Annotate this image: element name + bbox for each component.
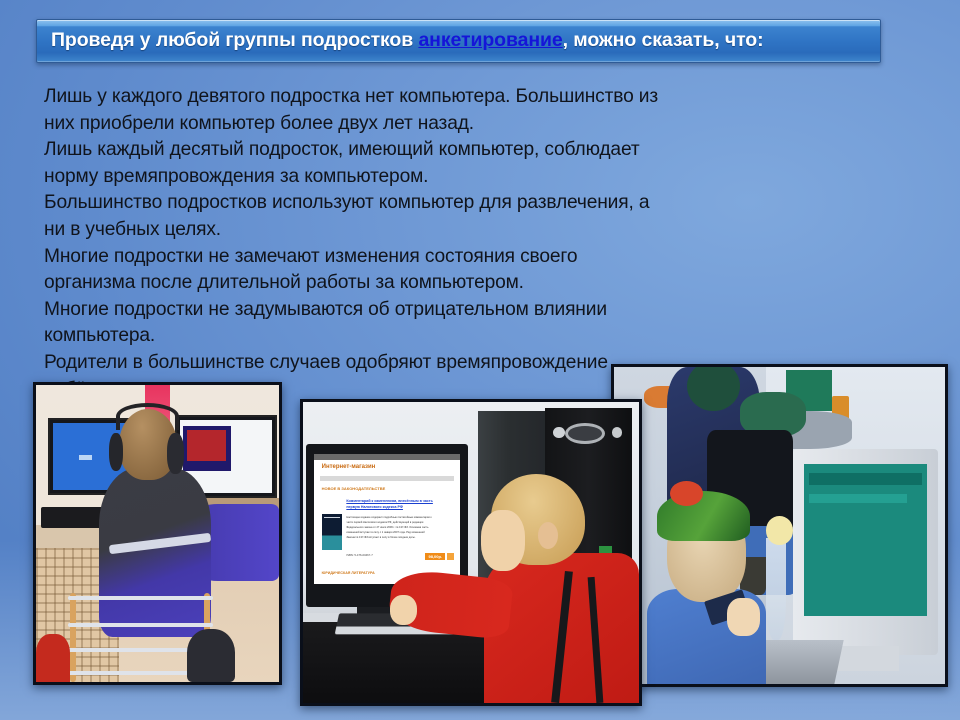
- girl-hand: [727, 598, 760, 636]
- body-line: организма после длительной работы за ком…: [44, 270, 734, 297]
- monitor: [793, 449, 939, 655]
- item-link[interactable]: Комментарий к изменениям, внесённым в ча…: [346, 499, 436, 510]
- photo-girl-flower-crown: [611, 364, 948, 687]
- boy-face: [481, 510, 525, 570]
- monitor-screen: [804, 464, 926, 616]
- body-line: компьютера.: [44, 323, 734, 350]
- reset-button-icon: [612, 427, 622, 437]
- headphone-cup-left: [109, 433, 124, 472]
- chair-rail: [68, 623, 214, 627]
- site-title: Интернет-магазин: [322, 464, 376, 470]
- photo-boy-red-shirt: Интернет-магазин НОВОЕ В ЗАКОНОДАТЕЛЬСТВ…: [300, 399, 642, 706]
- glass-vase: [766, 538, 786, 639]
- footer-link[interactable]: ЮРИДИЧЕСКАЯ ЛИТЕРАТУРА: [322, 571, 375, 575]
- boy-hand: [390, 595, 417, 625]
- chair-post: [70, 593, 76, 682]
- body-line: Лишь каждый десятый подросток, имеющий к…: [44, 137, 734, 164]
- dark-object: [187, 629, 236, 682]
- power-button-icon: [553, 427, 564, 438]
- photo-boy-headphones: [33, 382, 282, 685]
- body-text-block: Лишь у каждого девятого подростка нет ко…: [44, 84, 734, 403]
- section-heading: НОВОЕ В ЗАКОНОДАТЕЛЬСТВЕ: [322, 486, 386, 491]
- headphone-cup-right: [167, 433, 184, 475]
- browser-titlebar: [314, 454, 459, 461]
- body-line: норму времяпровождения за компьютером.: [44, 164, 734, 191]
- body-line: Большинство подростков используют компью…: [44, 190, 734, 217]
- title-text: Проведя у любой группы подростков анкети…: [51, 31, 764, 51]
- anketirovanie-hyperlink[interactable]: анкетирование: [418, 29, 562, 51]
- photo-scene: Интернет-магазин НОВОЕ В ЗАКОНОДАТЕЛЬСТВ…: [303, 402, 639, 703]
- item-description: Настоящее издание содержит подробные пос…: [346, 516, 433, 541]
- body-line: Лишь у каждого девятого подростка нет ко…: [44, 84, 734, 111]
- photo-scene: [614, 367, 945, 684]
- title-before-link: Проведя у любой группы подростков: [51, 29, 418, 51]
- headphones-band-icon: [116, 403, 179, 430]
- slide-canvas: Проведя у любой группы подростков анкети…: [0, 0, 960, 720]
- yellow-flower: [766, 516, 792, 545]
- chair-rail: [68, 596, 214, 600]
- body-line: Многие подростки не замечают изменения с…: [44, 244, 734, 271]
- monitor-screen: Интернет-магазин НОВОЕ В ЗАКОНОДАТЕЛЬСТВ…: [314, 454, 459, 584]
- book-cover-thumbnail: [322, 514, 342, 550]
- address-bar[interactable]: [320, 476, 454, 481]
- photo-scene: [36, 385, 279, 682]
- title-banner: Проведя у любой группы подростков анкети…: [36, 19, 881, 63]
- item-price: 98,00р.: [425, 553, 445, 560]
- title-after-link: , можно сказать, что:: [563, 29, 764, 51]
- red-object: [36, 634, 70, 682]
- item-isbn: ISBN: 5-476-00467-7: [346, 553, 372, 558]
- body-line: них приобрели компьютер более двух лет н…: [44, 111, 734, 138]
- body-line: Многие подростки не задумываются об отри…: [44, 297, 734, 324]
- cart-icon[interactable]: [447, 553, 454, 561]
- body-line: ни в учебных целях.: [44, 217, 734, 244]
